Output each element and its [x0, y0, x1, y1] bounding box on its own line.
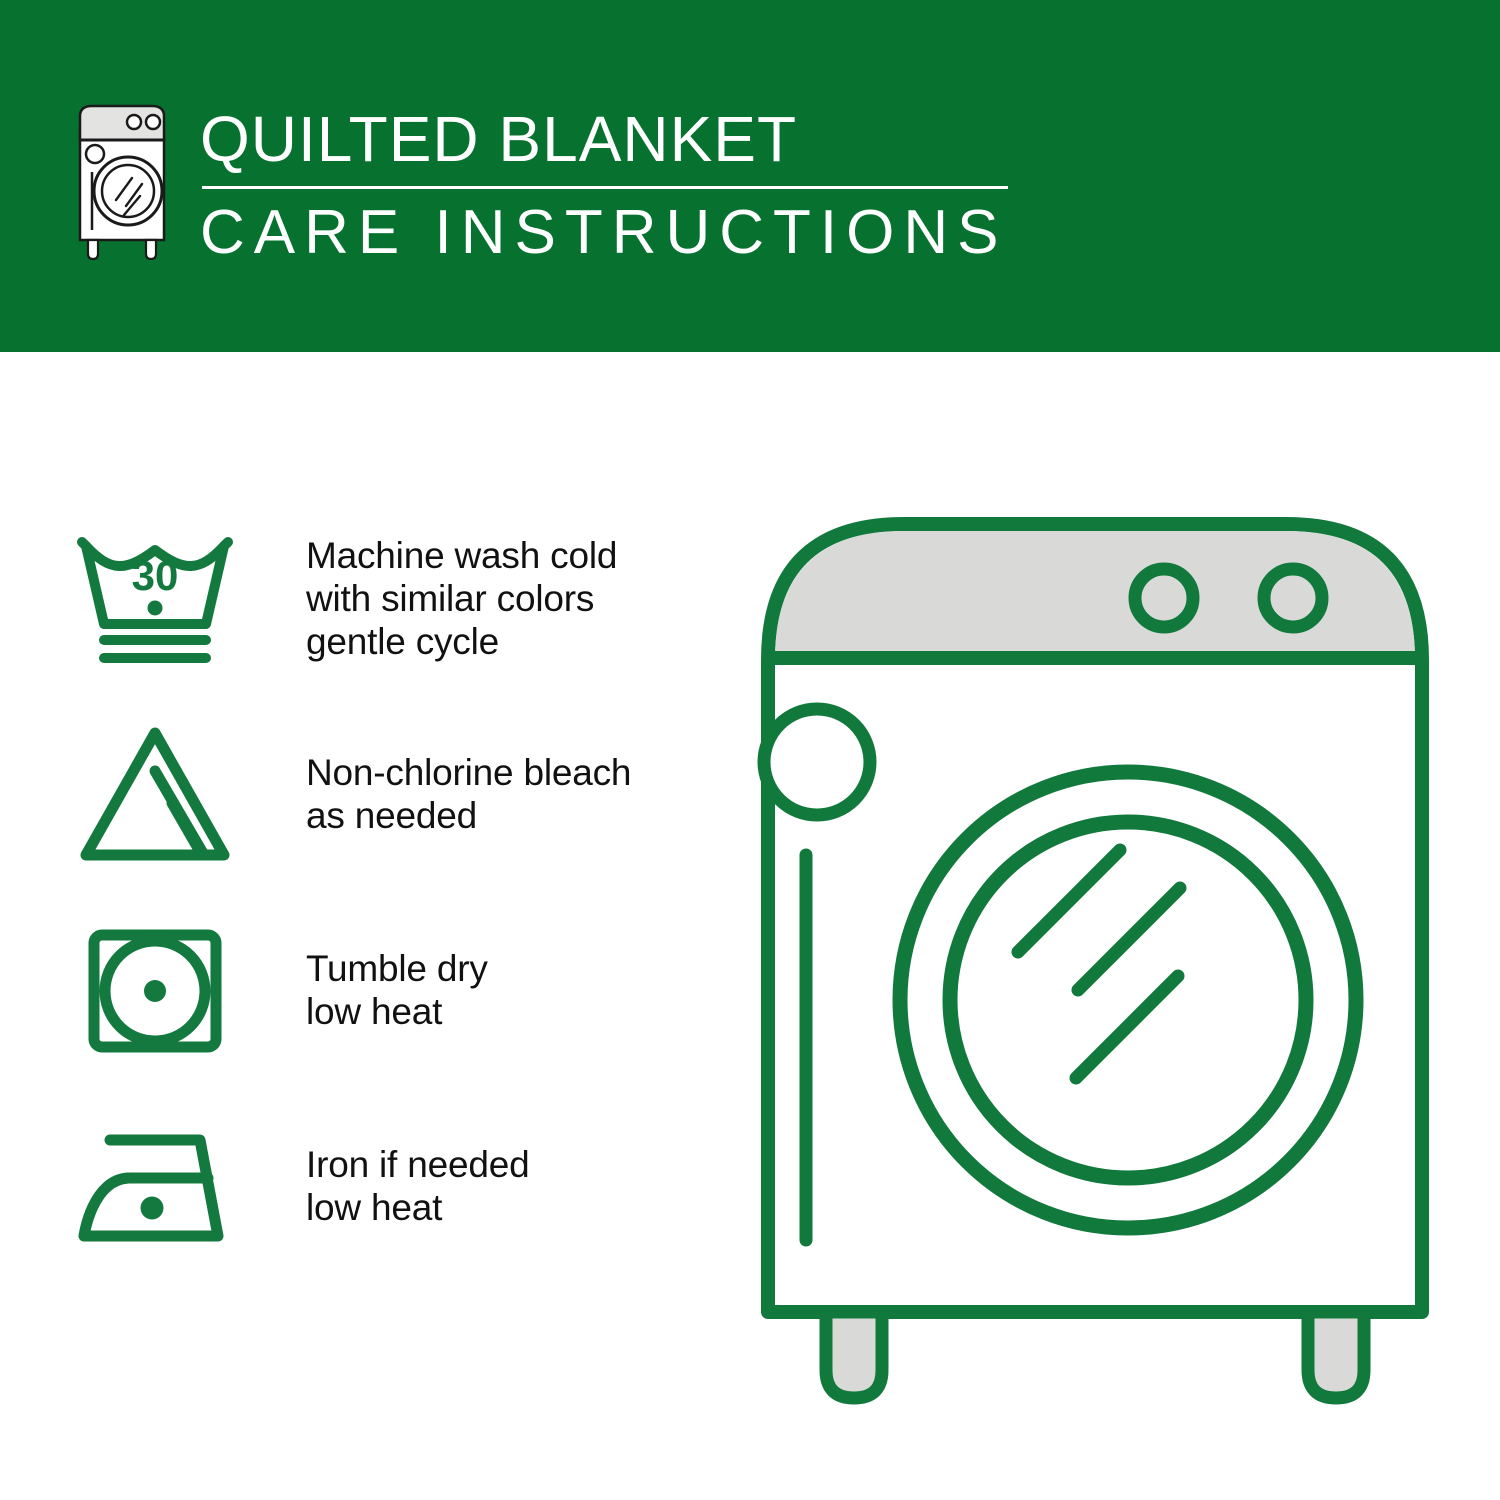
washing-machine-icon — [62, 96, 182, 264]
machine-leg-left — [826, 1312, 882, 1398]
care-text-bleach: Non-chlorine bleach as needed — [250, 751, 631, 837]
wash-tub-30-icon: 30 — [70, 528, 250, 668]
care-line: low heat — [306, 990, 488, 1033]
care-instruction-list: 30 Machine wash cold with similar colors… — [70, 500, 710, 1284]
care-text-tumble-dry: Tumble dry low heat — [250, 947, 488, 1033]
dispenser-circle — [764, 709, 870, 815]
page-title: QUILTED BLANKET — [200, 102, 1008, 176]
header-banner: QUILTED BLANKET CARE INSTRUCTIONS — [0, 0, 1500, 352]
control-knob-left — [1135, 569, 1193, 627]
header-content: QUILTED BLANKET CARE INSTRUCTIONS — [62, 96, 1008, 269]
care-line: Tumble dry — [306, 947, 488, 990]
door-inner-ring — [950, 822, 1306, 1178]
wash-temperature-label: 30 — [132, 552, 179, 599]
tumble-dry-icon — [70, 915, 250, 1065]
care-line: Machine wash cold — [306, 534, 617, 577]
care-line: gentle cycle — [306, 620, 617, 663]
care-line: Iron if needed — [306, 1143, 529, 1186]
care-text-iron: Iron if needed low heat — [250, 1143, 529, 1229]
header-titles: QUILTED BLANKET CARE INSTRUCTIONS — [200, 96, 1008, 269]
control-knob-right — [1264, 569, 1322, 627]
care-row-wash: 30 Machine wash cold with similar colors… — [70, 500, 710, 696]
care-line: Non-chlorine bleach — [306, 751, 631, 794]
bleach-triangle-icon — [70, 719, 250, 869]
care-line: as needed — [306, 794, 631, 837]
care-text-wash: Machine wash cold with similar colors ge… — [250, 534, 617, 663]
iron-icon — [70, 1116, 250, 1256]
care-row-bleach: Non-chlorine bleach as needed — [70, 696, 710, 892]
title-divider — [202, 186, 1008, 189]
care-row-iron: Iron if needed low heat — [70, 1088, 710, 1284]
care-line: with similar colors — [306, 577, 617, 620]
care-row-tumble-dry: Tumble dry low heat — [70, 892, 710, 1088]
machine-leg-right — [1308, 1312, 1364, 1398]
front-load-washing-machine-illustration — [740, 500, 1450, 1420]
care-line: low heat — [306, 1186, 529, 1229]
page-subtitle: CARE INSTRUCTIONS — [200, 197, 1008, 269]
